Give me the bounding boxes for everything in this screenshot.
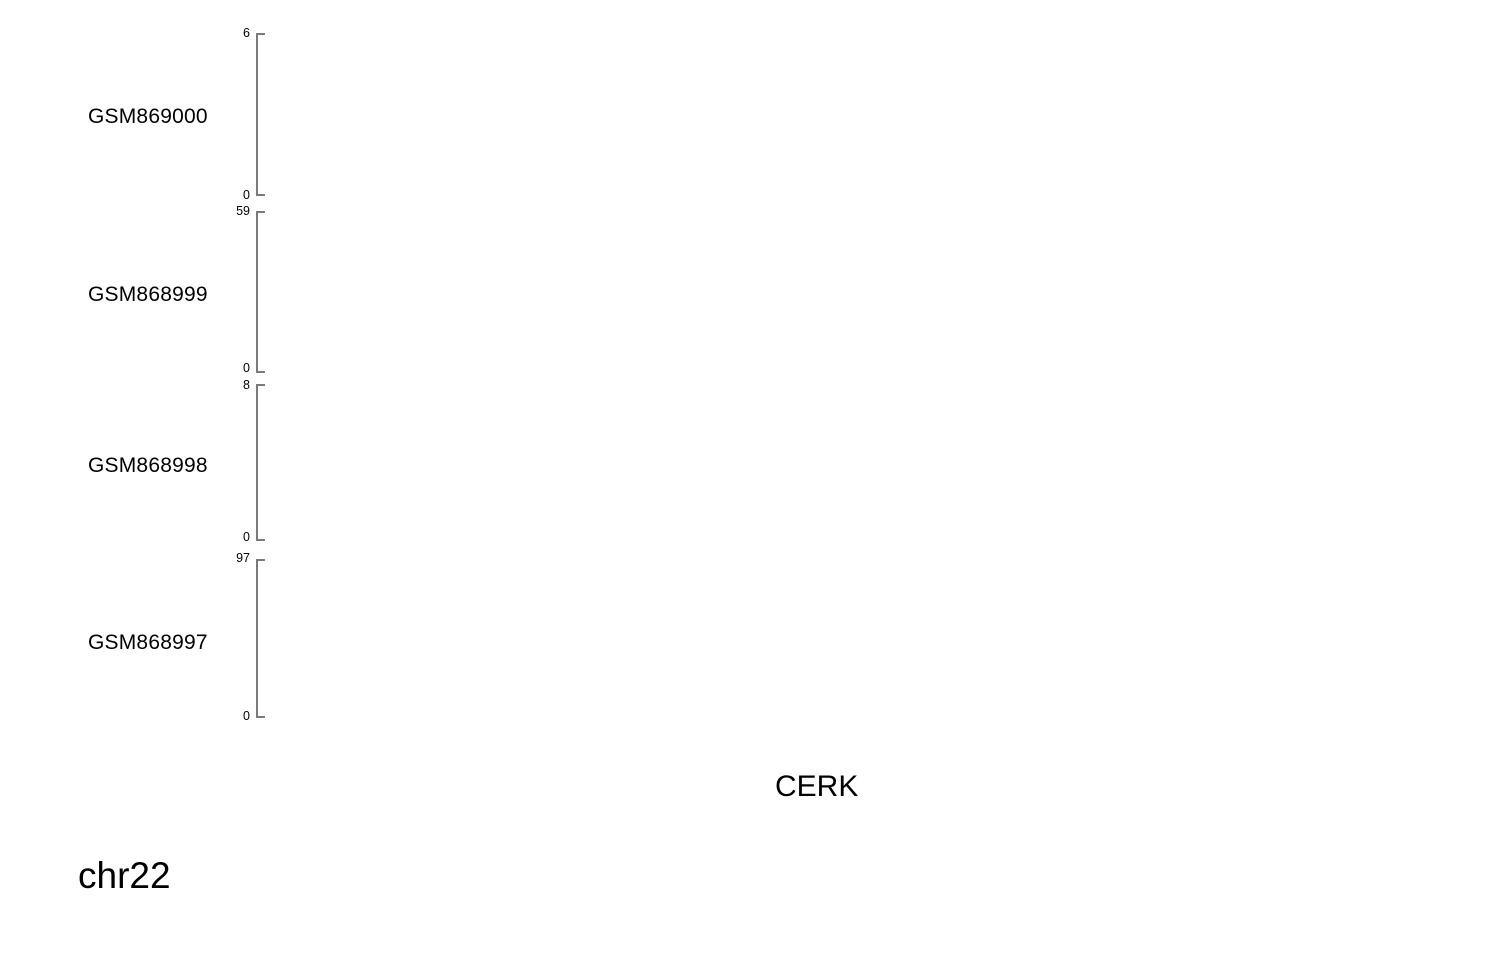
track-axis-min-gsm868999: 0 (205, 362, 250, 375)
track-axis-min-gsm868997: 0 (205, 710, 250, 723)
coverage-area-gsm868997 (265, 559, 1422, 718)
signal-track-gsm868997[interactable]: GSM868997 97 0 (0, 552, 1500, 727)
gene-model-diagram[interactable] (0, 780, 1500, 890)
track-plot-gsm869000[interactable] (265, 33, 1422, 196)
track-plot-gsm868998[interactable] (265, 384, 1422, 541)
track-axis-min-gsm869000: 0 (210, 189, 250, 202)
track-axis-max-gsm868997: 97 (205, 552, 250, 565)
track-axis-max-gsm869000: 6 (210, 27, 250, 40)
coordinate-axis-ruler[interactable] (0, 880, 1500, 920)
track-label-gsm868998: GSM868998 (88, 454, 208, 478)
track-label-gsm868997: GSM868997 (88, 631, 208, 655)
track-label-gsm869000: GSM869000 (88, 105, 208, 129)
coverage-area-gsm869000 (265, 33, 1422, 196)
signal-track-gsm868999[interactable]: GSM868999 59 0 (0, 205, 1500, 380)
track-axis-min-gsm868998: 0 (210, 531, 250, 544)
track-plot-gsm868997[interactable] (265, 559, 1422, 718)
coverage-area-gsm868999 (265, 211, 1422, 373)
track-axis-bracket-gsm869000 (256, 33, 265, 196)
signal-track-gsm868998[interactable]: GSM868998 8 0 (0, 379, 1500, 546)
track-axis-max-gsm868999: 59 (205, 205, 250, 218)
coverage-area-gsm868998 (265, 384, 1422, 541)
track-plot-gsm868999[interactable] (265, 211, 1422, 373)
gene-model-panel[interactable]: CERK (0, 760, 1500, 890)
track-axis-bracket-gsm868998 (256, 384, 265, 541)
track-label-gsm868999: GSM868999 (88, 283, 208, 307)
track-axis-bracket-gsm868997 (256, 559, 265, 718)
track-axis-max-gsm868998: 8 (210, 379, 250, 392)
genome-browser-view: GSM869000 6 0 GSM868999 59 0 GSM868998 8… (0, 0, 1500, 980)
coordinate-axis-panel[interactable] (0, 880, 1500, 980)
track-axis-bracket-gsm868999 (256, 211, 265, 373)
signal-track-gsm869000[interactable]: GSM869000 6 0 (0, 0, 1500, 205)
